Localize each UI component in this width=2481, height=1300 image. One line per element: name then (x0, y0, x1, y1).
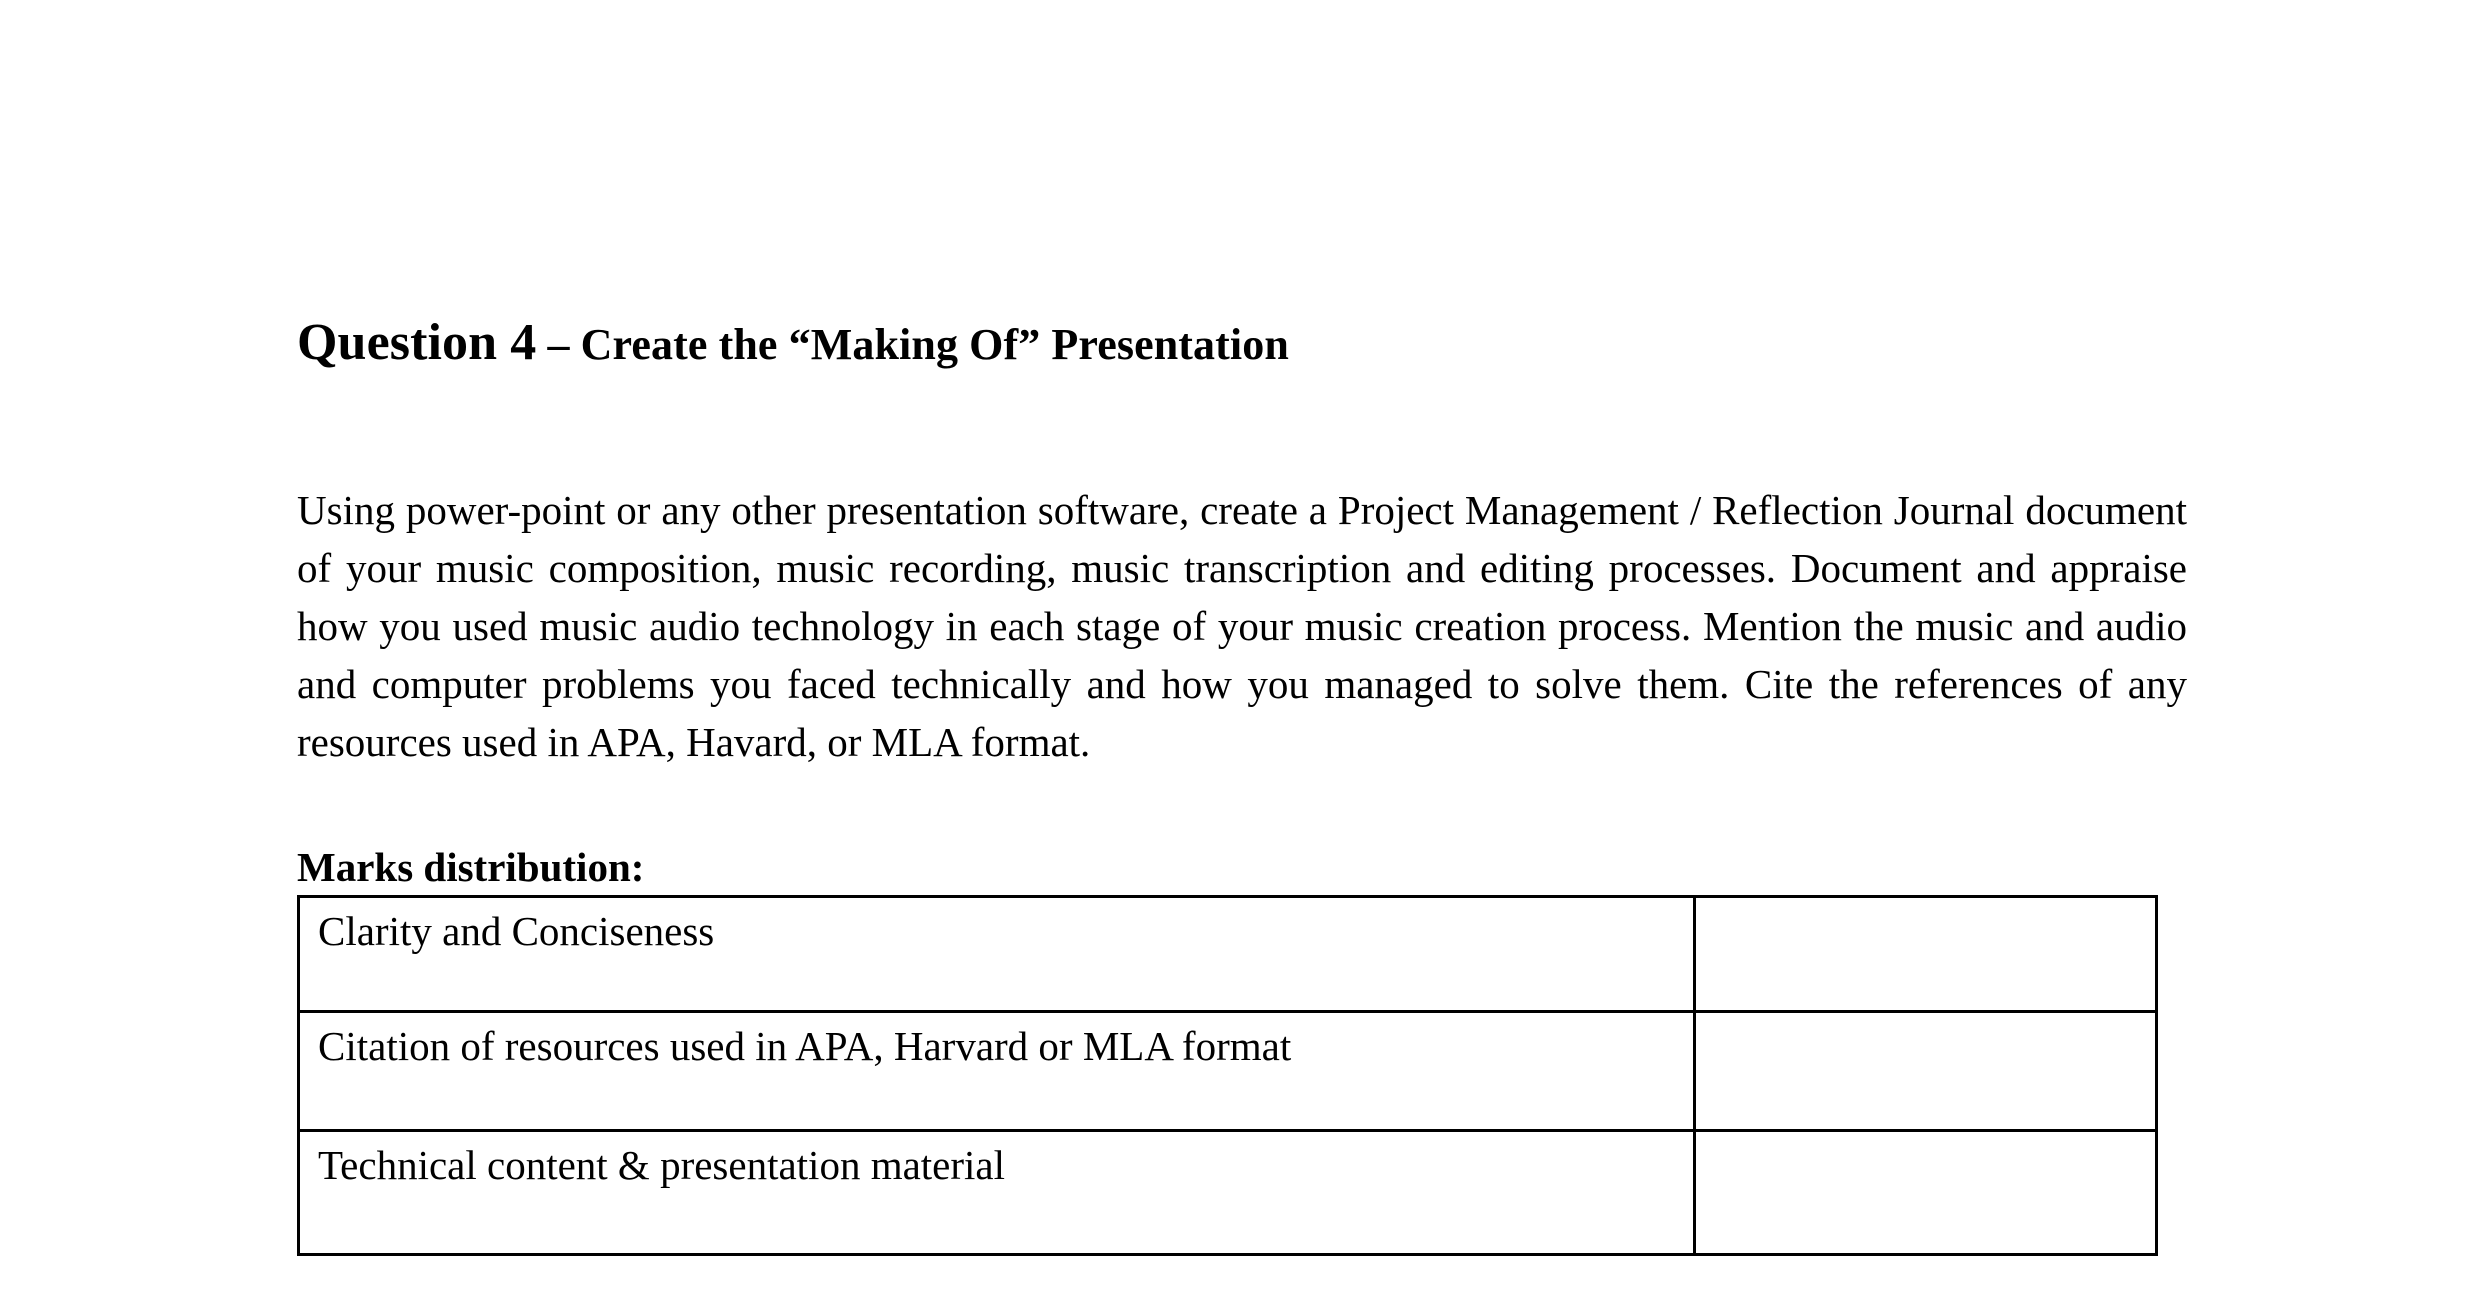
page-title-rest: – Create the “Making Of” Presentation (536, 320, 1289, 369)
marks-cell[interactable] (1695, 1131, 2157, 1255)
marks-cell[interactable] (1695, 1012, 2157, 1131)
marks-distribution-label: Marks distribution: (297, 843, 644, 891)
table-row: Citation of resources used in APA, Harva… (299, 1012, 2157, 1131)
page-title: Question 4 – Create the “Making Of” Pres… (297, 317, 2197, 369)
document-page: Question 4 – Create the “Making Of” Pres… (0, 0, 2481, 1300)
marks-cell[interactable] (1695, 897, 2157, 1012)
marks-distribution-table: Clarity and Conciseness Citation of reso… (297, 895, 2158, 1256)
criterion-cell: Citation of resources used in APA, Harva… (299, 1012, 1695, 1131)
table-row: Clarity and Conciseness (299, 897, 2157, 1012)
criterion-cell: Clarity and Conciseness (299, 897, 1695, 1012)
criterion-cell: Technical content & presentation materia… (299, 1131, 1695, 1255)
table-row: Technical content & presentation materia… (299, 1131, 2157, 1255)
task-description-paragraph: Using power-point or any other presentat… (297, 481, 2187, 771)
page-title-lead: Question 4 (297, 314, 536, 371)
